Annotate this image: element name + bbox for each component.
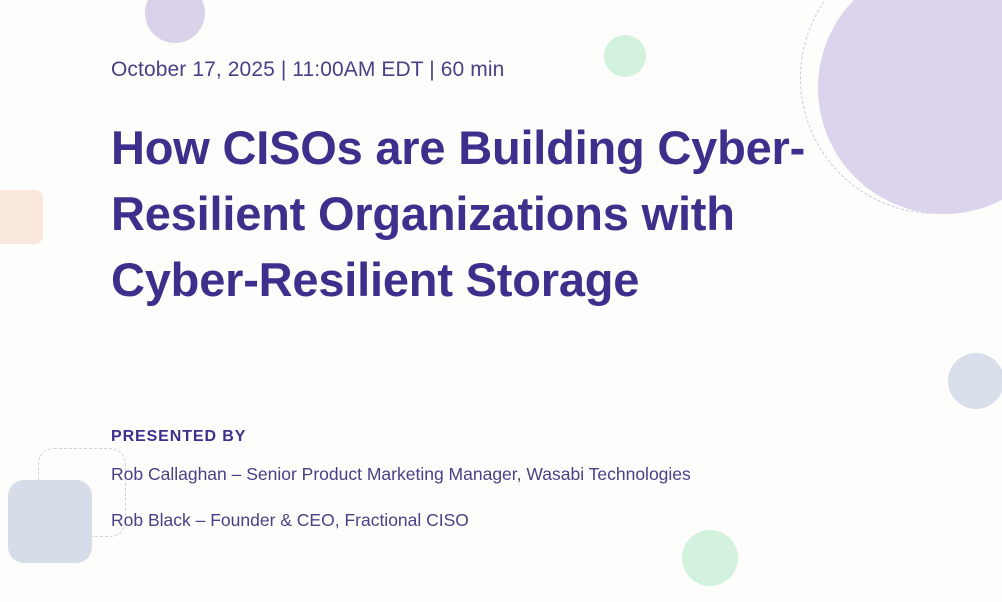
webinar-promo-banner: October 17, 2025 | 11:00AM EDT | 60 min …: [0, 0, 1002, 602]
blue-gray-circle-right-decoration: [948, 353, 1002, 409]
banner-content: October 17, 2025 | 11:00AM EDT | 60 min …: [111, 0, 851, 602]
blue-gray-rounded-square-decoration: [8, 480, 92, 563]
event-datetime-duration: October 17, 2025 | 11:00AM EDT | 60 min: [111, 58, 504, 82]
page-title: How CISOs are Building Cyber-Resilient O…: [111, 115, 831, 313]
presented-by-label: PRESENTED BY: [111, 428, 246, 446]
presenter-entry: Rob Black – Founder & CEO, Fractional CI…: [111, 510, 469, 531]
presenter-entry: Rob Callaghan – Senior Product Marketing…: [111, 464, 691, 485]
peach-rounded-rect-decoration: [0, 190, 43, 244]
